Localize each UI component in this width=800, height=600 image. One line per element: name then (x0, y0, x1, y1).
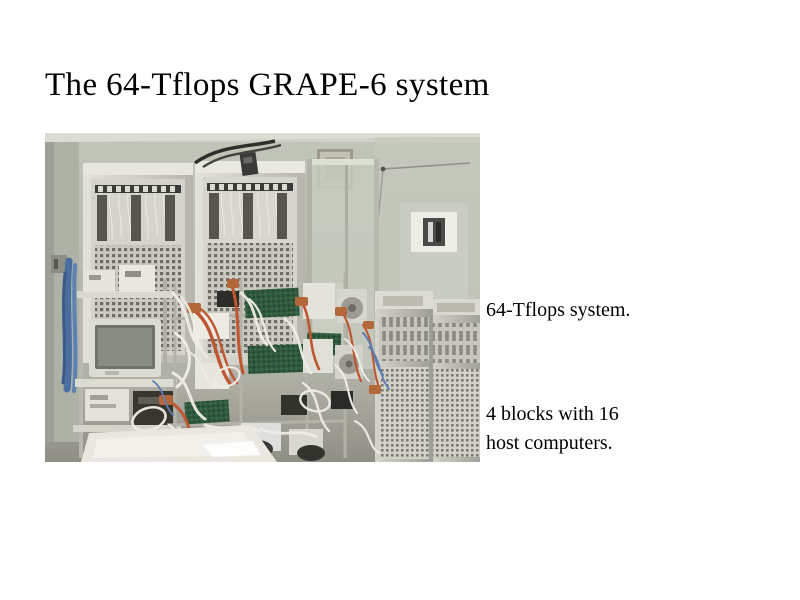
tall-cabinet-far-right (429, 299, 480, 462)
presentation-slide: The 64-Tflops GRAPE-6 system (0, 0, 800, 600)
caption-blocks-hosts-line2: host computers. (486, 429, 619, 458)
slide-title: The 64-Tflops GRAPE-6 system (45, 66, 490, 104)
caption-blocks-hosts-line1: 4 blocks with 16 (486, 400, 619, 429)
left-wall-shadow (45, 142, 54, 442)
conduit-junction (381, 167, 386, 172)
wall-outlet-slot (54, 259, 58, 269)
grape6-system-photo (45, 133, 480, 462)
photo-illustration (45, 133, 480, 462)
left-shelf-rack (73, 265, 181, 458)
wall-outlet (51, 255, 67, 273)
caption-blocks-hosts: 4 blocks with 16 host computers. (486, 400, 619, 458)
caption-system-spec: 64-Tflops system. (486, 296, 630, 325)
blue-cable-bundle (63, 261, 75, 391)
tall-cabinet-right (375, 291, 433, 462)
crt-monitor (89, 319, 161, 377)
wall-breaker-panel (400, 203, 468, 299)
